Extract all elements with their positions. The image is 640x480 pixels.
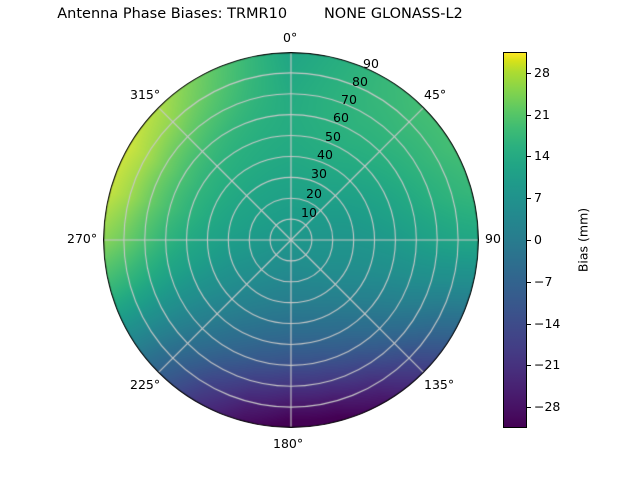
colorbar-tick-label: 7 xyxy=(534,192,542,205)
colorbar-tick-label: −21 xyxy=(534,359,560,372)
r-label-50: 50 xyxy=(325,131,341,144)
theta-label-0: 0° xyxy=(283,32,297,45)
colorbar-tick-label: 0 xyxy=(534,234,542,247)
colorbar-axis-label: Bias (mm) xyxy=(576,208,591,272)
colorbar-gradient xyxy=(503,52,527,428)
theta-label-225: 225° xyxy=(130,379,160,392)
theta-label-45: 45° xyxy=(424,89,446,102)
colorbar-tick-mark xyxy=(527,73,531,74)
colorbar-tick-label: −28 xyxy=(534,401,560,414)
polar-heatmap xyxy=(103,52,479,428)
r-label-60: 60 xyxy=(333,112,349,125)
colorbar-tick-mark xyxy=(527,156,531,157)
r-label-70: 70 xyxy=(341,94,357,107)
colorbar-tick-mark xyxy=(527,240,531,241)
colorbar-tick-mark xyxy=(527,407,531,408)
r-label-10: 10 xyxy=(301,207,317,220)
theta-label-315: 315° xyxy=(130,89,160,102)
colorbar-tick-mark xyxy=(527,282,531,283)
colorbar-tick-label: −7 xyxy=(534,276,552,289)
colorbar-tick-label: 21 xyxy=(534,108,550,121)
r-label-20: 20 xyxy=(306,188,322,201)
figure-canvas: Antenna Phase Biases: TRMR10 NONE GLONAS… xyxy=(0,0,640,480)
colorbar-tick-mark xyxy=(527,324,531,325)
theta-label-135: 135° xyxy=(424,379,454,392)
r-label-40: 40 xyxy=(317,149,333,162)
theta-label-180: 180° xyxy=(273,438,303,451)
colorbar-tick-mark xyxy=(527,198,531,199)
colorbar-tick-label: −14 xyxy=(534,317,560,330)
colorbar-tick-label: 14 xyxy=(534,150,550,163)
r-label-80: 80 xyxy=(352,76,368,89)
colorbar-tick-mark xyxy=(527,365,531,366)
page-title: Antenna Phase Biases: TRMR10 NONE GLONAS… xyxy=(0,6,520,22)
colorbar-tick-mark xyxy=(527,115,531,116)
r-label-30: 30 xyxy=(311,168,327,181)
theta-label-270: 270° xyxy=(67,233,97,246)
colorbar[interactable]: 28211470−7−14−21−28 Bias (mm) xyxy=(503,52,527,428)
r-label-90: 90 xyxy=(363,58,379,71)
theta-label-90: 90 xyxy=(485,233,501,246)
colorbar-tick-label: 28 xyxy=(534,67,550,80)
polar-axes[interactable] xyxy=(103,52,479,428)
